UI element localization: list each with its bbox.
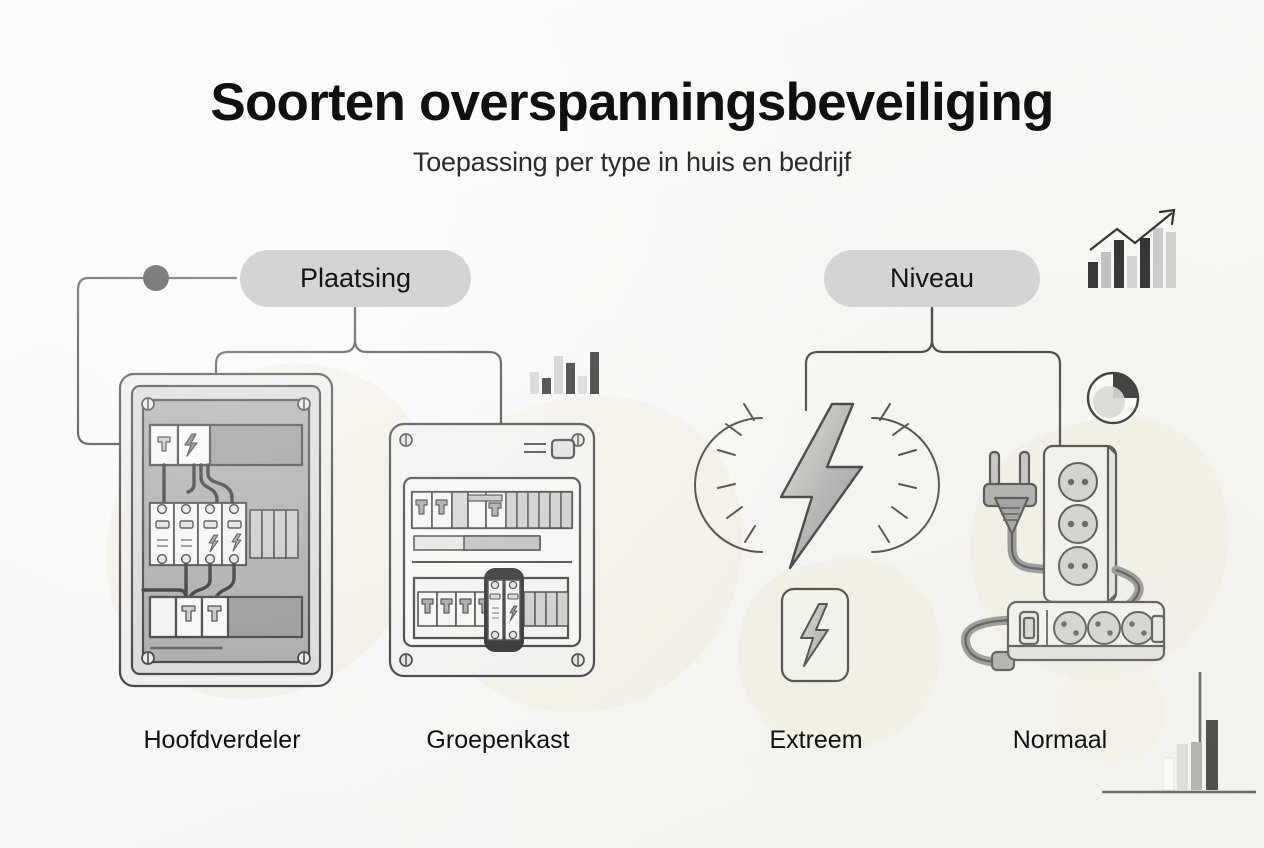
page-title: Soorten overspanningsbeveiliging: [0, 74, 1264, 131]
trend-bar-chart-icon: [1088, 210, 1176, 288]
small-bar-chart-icon: [530, 352, 599, 394]
infographic-canvas: Soorten overspanningsbeveiliging Toepass…: [0, 0, 1264, 848]
page-subtitle: Toepassing per type in huis en bedrijf: [0, 147, 1264, 178]
node-label-extreem: Extreem: [676, 726, 956, 755]
node-label-normaal: Normaal: [920, 726, 1200, 755]
pie-chart-icon: [1088, 373, 1138, 423]
node-label-groepenkast: Groepenkast: [320, 726, 676, 755]
header-block: Soorten overspanningsbeveiliging Toepass…: [0, 74, 1264, 178]
branch-pill-plaatsing[interactable]: Plaatsing: [240, 250, 471, 307]
branch-pill-niveau[interactable]: Niveau: [824, 250, 1040, 307]
